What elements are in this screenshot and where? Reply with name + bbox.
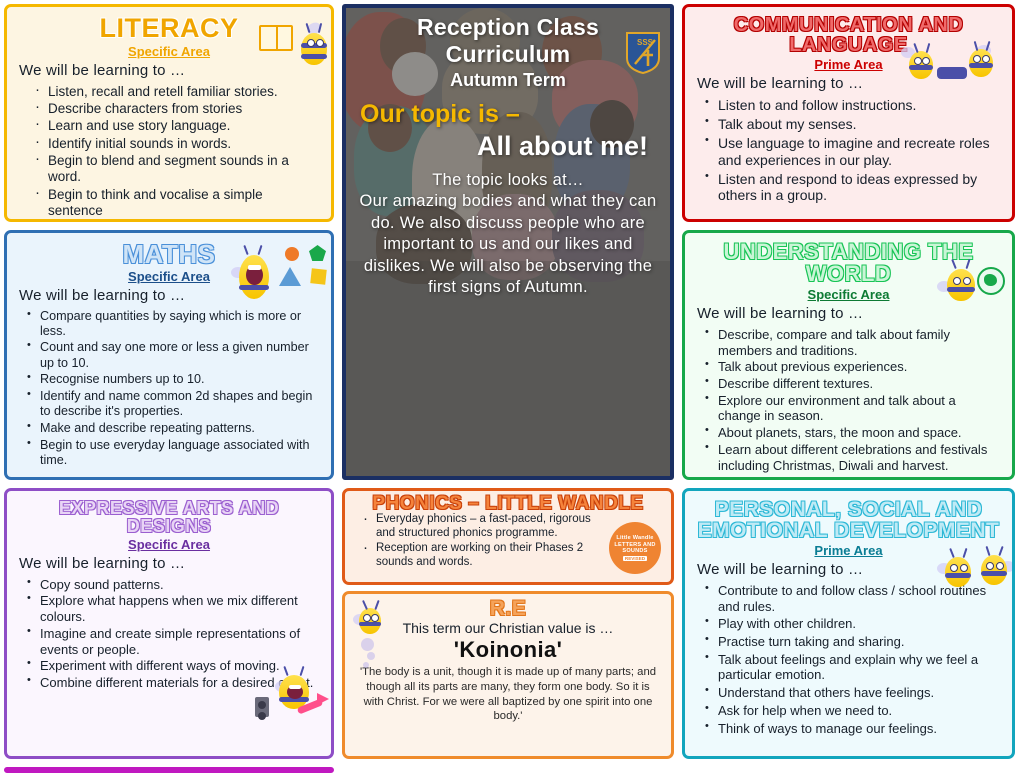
list-item: Describe, compare and talk about family … (705, 327, 998, 358)
panel-expressive-arts-and-designs: EXPRESSIVE ARTS AND DESIGNS Specific Are… (4, 488, 334, 759)
list-item: Explore what happens when we mix differe… (27, 593, 317, 624)
list-item: Identify and name common 2d shapes and b… (27, 389, 317, 419)
centre-bottom-stack: Little Wandle LETTERS AND SOUNDS REVISED… (338, 484, 678, 763)
curriculum-board: LITERACY Specific Area We will be learni… (0, 0, 1019, 763)
bee-with-guitar-illustration (253, 667, 334, 735)
list-item: Describe different textures. (705, 376, 998, 392)
list-item: Practise turn taking and sharing. (705, 634, 998, 650)
list-item: Talk about my senses. (705, 116, 998, 133)
literacy-points-list: Listen, recall and retell familiar stori… (17, 84, 321, 220)
list-item: Reception are working on their Phases 2 … (363, 542, 603, 570)
list-item: Copy sound patterns. (27, 577, 317, 593)
badge-line2: LETTERS AND SOUNDS (609, 542, 661, 555)
list-item: Learn and use story language. (35, 118, 317, 134)
panel-literacy: LITERACY Specific Area We will be learni… (4, 4, 334, 222)
panel-title-line1: PERSONAL, SOCIAL AND (695, 499, 1002, 520)
list-item: Talk about previous experiences. (705, 359, 998, 375)
topic-term: Autumn Term (354, 70, 662, 91)
understanding-world-points-list: Describe, compare and talk about family … (695, 327, 1002, 473)
list-item: Learn about different celebrations and f… (705, 442, 998, 473)
little-wandle-badge-icon: Little Wandle LETTERS AND SOUNDS REVISED (609, 522, 661, 574)
panel-area-label: Specific Area (17, 537, 321, 552)
panel-title: PHONICS – LITTLE WANDLE (353, 494, 663, 513)
panel-communication-and-language: COMMUNICATION AND LANGUAGE Prime Area We… (682, 4, 1015, 222)
school-crest-icon: SSS (626, 32, 660, 74)
topic-label: Our topic is – (360, 100, 662, 129)
two-bees-talking-illustration (895, 43, 1015, 103)
list-item: Compare quantities by saying which is mo… (27, 309, 317, 339)
panel-personal-social-emotional-development: PERSONAL, SOCIAL AND EMOTIONAL DEVELOPME… (682, 488, 1015, 759)
list-item: Everyday phonics – a fast-paced, rigorou… (363, 513, 603, 541)
badge-line3: REVISED (623, 556, 647, 561)
list-item: Imagine and create simple representation… (27, 626, 317, 657)
maths-points-list: Compare quantities by saying which is mo… (17, 309, 321, 469)
panel-lead: We will be learning to … (19, 555, 321, 572)
topic-body-intro: The topic looks at… (358, 170, 658, 191)
topic-title: Reception Class Curriculum (354, 14, 662, 68)
list-item: Recognise numbers up to 10. (27, 372, 317, 387)
list-item: Explore our environment and talk about a… (705, 393, 998, 424)
list-item: Identify initial sounds in words. (35, 136, 317, 152)
panel-understanding-the-world: UNDERSTANDING THE WORLD Specific Area We… (682, 230, 1015, 480)
topic-body-text: Our amazing bodies and what they can do.… (358, 191, 658, 298)
list-item: Think of ways to manage our feelings. (705, 721, 998, 737)
re-scripture-quote: 'The body is a unit, though it is made u… (353, 665, 663, 724)
list-item: Talk about feelings and explain why we f… (705, 652, 998, 683)
list-item: Describe characters from stories (35, 101, 317, 117)
bee-with-shapes-illustration (229, 241, 334, 313)
panel-topic-overview: SSS Reception Class Curriculum Autumn Te… (342, 4, 674, 480)
bee-with-globe-illustration (937, 259, 1015, 321)
list-item: Count and say one more or less a given n… (27, 340, 317, 370)
list-item: Understand that others have feelings. (705, 685, 998, 701)
list-item: Listen and respond to ideas expressed by… (705, 171, 998, 205)
list-item: Play with other children. (705, 616, 998, 632)
list-item: Make and describe repeating patterns. (27, 421, 317, 436)
two-happy-bees-illustration (937, 543, 1015, 609)
list-item: About planets, stars, the moon and space… (705, 425, 998, 441)
list-item: Begin to think and vocalise a simple sen… (35, 187, 317, 220)
list-item: Begin to blend and segment sounds in a w… (35, 153, 317, 186)
panel-title: EXPRESSIVE ARTS AND DESIGNS (17, 499, 321, 536)
topic-name: All about me! (354, 131, 648, 162)
communication-points-list: Listen to and follow instructions. Talk … (695, 97, 1002, 205)
panel-title: PERSONAL, SOCIAL AND EMOTIONAL DEVELOPME… (695, 499, 1002, 542)
bee-blowing-bubbles-illustration (351, 600, 401, 670)
list-item: Use language to imagine and recreate rol… (705, 135, 998, 169)
list-item: Ask for help when we need to. (705, 703, 998, 719)
panel-religious-education: R.E This term our Christian value is … '… (342, 591, 674, 759)
panel-phonics: Little Wandle LETTERS AND SOUNDS REVISED… (342, 488, 674, 585)
panel-physical-development: PHYSICAL DEVELOPMENT Prime Area We will … (4, 767, 334, 773)
bee-with-book-illustration (245, 13, 334, 97)
list-item: Begin to use everyday language associate… (27, 438, 317, 468)
panel-title-line2: EMOTIONAL DEVELOPMENT (695, 520, 1002, 541)
panel-maths: MATHS Specific Area We will be learning … (4, 230, 334, 480)
